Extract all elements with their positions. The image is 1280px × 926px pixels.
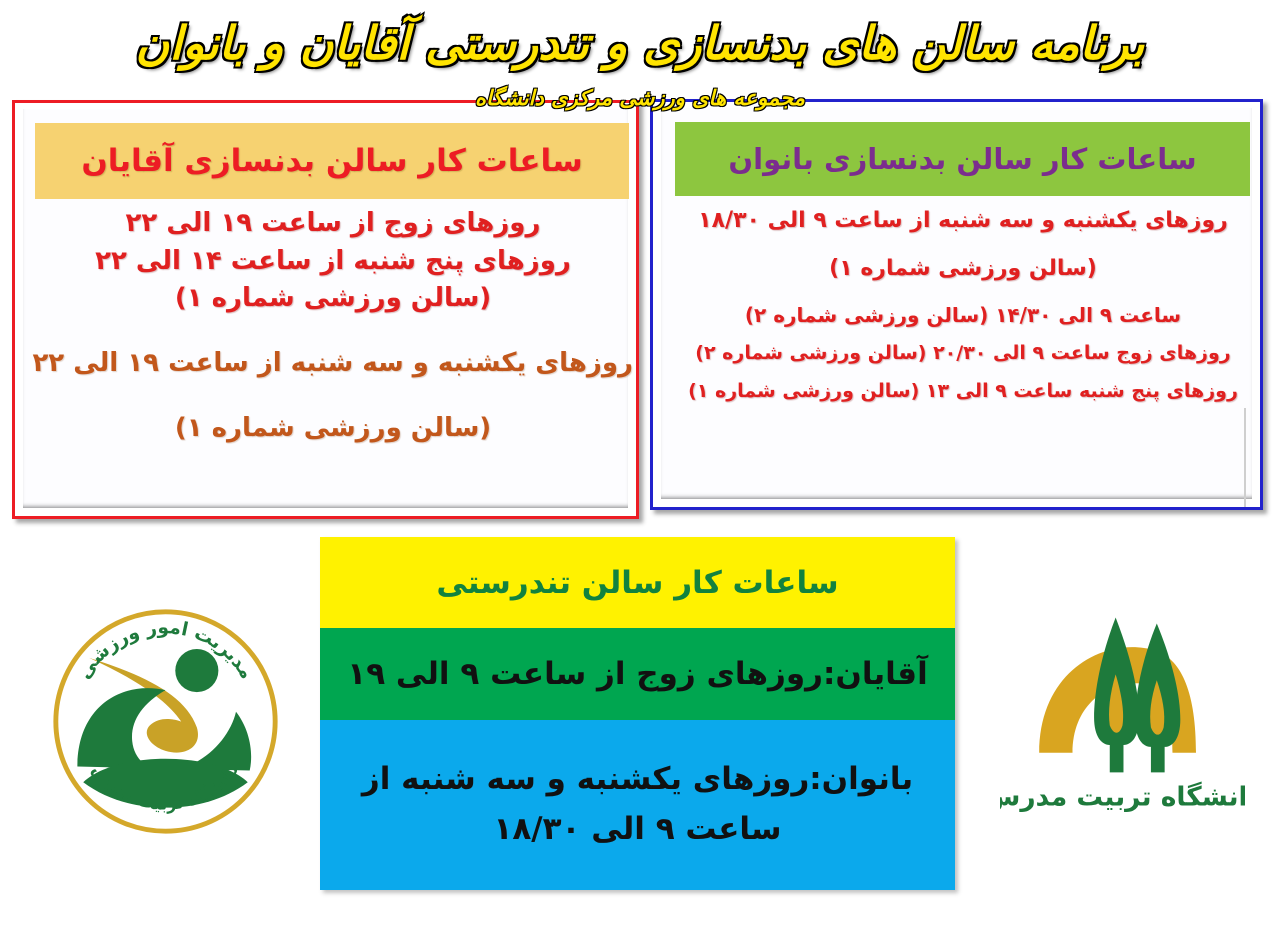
university-logo-caption: دانشگاه تربیت مدرس <box>1000 781 1245 813</box>
men-schedule-line-2: روزهای پنج شنبه از ساعت ۱۴ الی ۲۲ <box>33 243 633 281</box>
women-schedule-spacer-2 <box>673 285 1253 300</box>
men-schedule-spacer <box>33 318 633 344</box>
wellness-header: ساعات کار سالن تندرستی <box>320 537 955 628</box>
poster-title-block: برنامه سالن های بدنسازی و تندرستی آقایان… <box>0 18 1280 70</box>
women-schedule-line-4: روزهای زوج ساعت ۹ الی ۲۰/۳۰ (سالن ورزشی … <box>673 339 1253 368</box>
men-schedule-line-5: (سالن ورزشی شماره ۱) <box>33 409 633 448</box>
women-schedule-spacer-1 <box>673 237 1253 252</box>
men-schedule-line-1: روزهای زوج از ساعت ۱۹ الی ۲۲ <box>33 205 633 243</box>
women-gym-panel: ساعات کار سالن بدنسازی بانوان روزهای یکش… <box>650 99 1263 510</box>
wellness-panel: ساعات کار سالن تندرستی آقایان:روزهای زوج… <box>320 537 955 890</box>
women-gym-panel-inner: ساعات کار سالن بدنسازی بانوان روزهای یکش… <box>661 108 1252 499</box>
women-gym-header: ساعات کار سالن بدنسازی بانوان <box>675 122 1250 196</box>
men-schedule-line-4: روزهای یکشنبه و سه شنبه از ساعت ۱۹ الی ۲… <box>33 344 633 383</box>
men-gym-schedule-list: روزهای زوج از ساعت ۱۹ الی ۲۲ روزهای پنج … <box>33 205 633 448</box>
men-gym-header: ساعات کار سالن بدنسازی آقایان <box>35 123 629 199</box>
men-schedule-line-3: (سالن ورزشی شماره ۱) <box>33 280 633 318</box>
poster-root: برنامه سالن های بدنسازی و تندرستی آقایان… <box>0 0 1280 926</box>
men-gym-panel-inner: ساعات کار سالن بدنسازی آقایان روزهای زوج… <box>23 109 628 508</box>
men-schedule-spacer-2 <box>33 383 633 409</box>
women-schedule-line-1: روزهای یکشنبه و سه شنبه از ساعت ۹ الی ۱۸… <box>673 204 1253 237</box>
wellness-women-row: بانوان:روزهای یکشنبه و سه شنبه از ساعت ۹… <box>320 720 955 890</box>
women-schedule-line-2: (سالن ورزشی شماره ۱) <box>673 252 1253 285</box>
panel-divider-line <box>1244 408 1246 510</box>
page-subtitle: مجموعه های ورزشی مرکزی دانشگاه <box>0 86 1280 110</box>
women-schedule-line-3: ساعت ۹ الی ۱۴/۳۰ (سالن ورزشی شماره ۲) <box>673 300 1253 330</box>
sports-affairs-management-logo: مدیریت امور ورزشی دانشگاه تربیت مدرس <box>48 604 283 839</box>
women-schedule-spacer-4 <box>673 368 1253 377</box>
page-title: برنامه سالن های بدنسازی و تندرستی آقایان… <box>0 18 1280 70</box>
women-schedule-spacer-3 <box>673 330 1253 339</box>
tarbiat-modares-university-logo: دانشگاه تربیت مدرس <box>1000 596 1245 841</box>
women-gym-schedule-list: روزهای یکشنبه و سه شنبه از ساعت ۹ الی ۱۸… <box>673 204 1253 405</box>
men-gym-panel: ساعات کار سالن بدنسازی آقایان روزهای زوج… <box>12 100 639 519</box>
women-schedule-line-5: روزهای پنج شنبه ساعت ۹ الی ۱۳ (سالن ورزش… <box>673 377 1253 406</box>
wellness-men-row: آقایان:روزهای زوج از ساعت ۹ الی ۱۹ <box>320 628 955 720</box>
